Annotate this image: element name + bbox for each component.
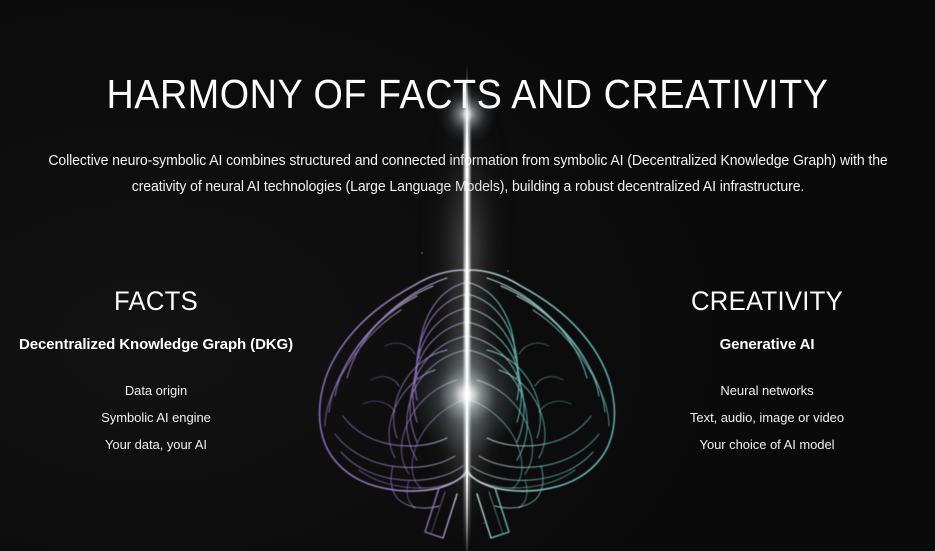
hero-section: HARMONY OF FACTS AND CREATIVITY Collecti…: [0, 0, 935, 551]
intro-paragraph: Collective neuro-symbolic AI combines st…: [36, 148, 899, 200]
facts-column-subtitle: Decentralized Knowledge Graph (DKG): [6, 334, 306, 355]
creativity-column-title: CREATIVITY: [625, 286, 910, 316]
creativity-column: CREATIVITY Generative AI Neural networks…: [617, 286, 917, 458]
list-item: Text, audio, image or video: [617, 404, 917, 431]
facts-column-title: FACTS: [14, 286, 299, 316]
facts-column: FACTS Decentralized Knowledge Graph (DKG…: [6, 286, 306, 458]
facts-list: Data origin Symbolic AI engine Your data…: [6, 377, 306, 458]
list-item: Your data, your AI: [6, 431, 306, 458]
list-item: Symbolic AI engine: [6, 404, 306, 431]
list-item: Your choice of AI model: [617, 431, 917, 458]
creativity-list: Neural networks Text, audio, image or vi…: [617, 377, 917, 458]
list-item: Neural networks: [617, 377, 917, 404]
list-item: Data origin: [6, 377, 306, 404]
page-title: HARMONY OF FACTS AND CREATIVITY: [37, 72, 897, 116]
split-brain-illustration: [297, 230, 637, 551]
brain-line-art: [297, 230, 637, 551]
creativity-column-subtitle: Generative AI: [617, 334, 917, 355]
